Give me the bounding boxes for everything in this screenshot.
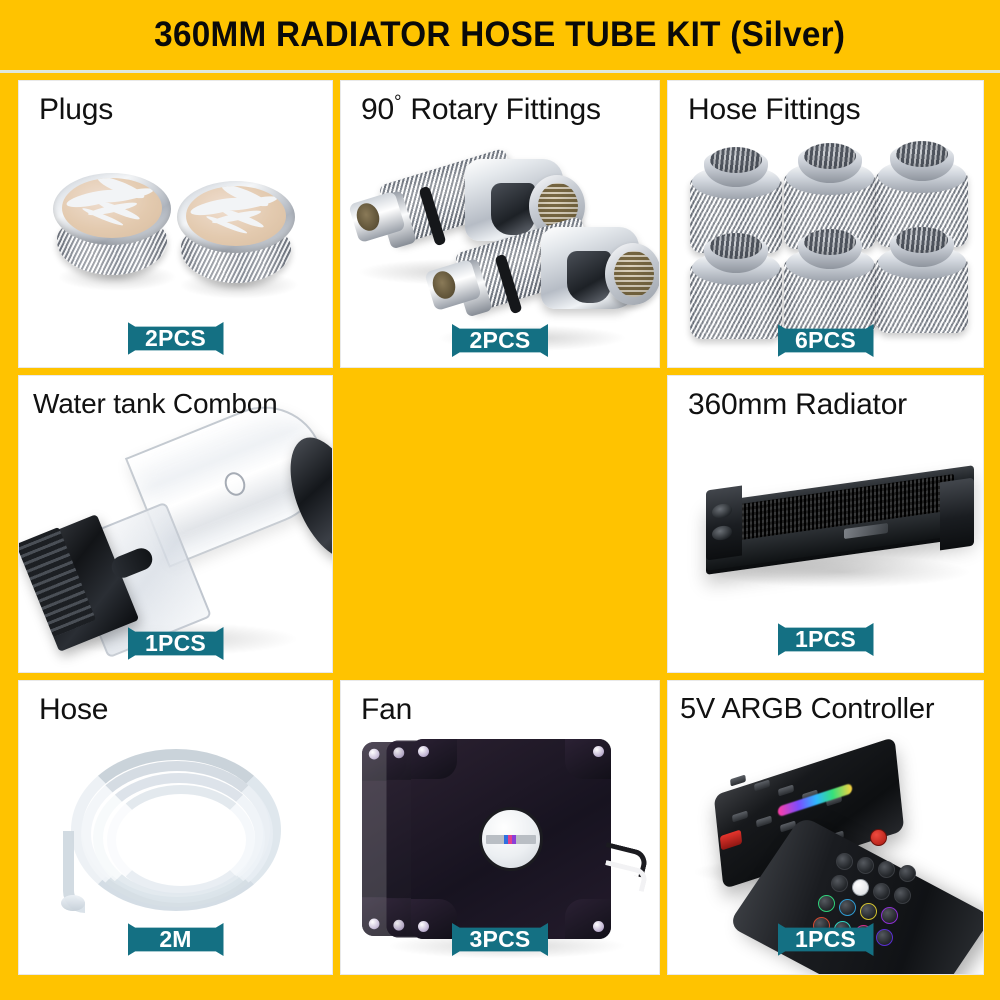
badge-wrap-water-tank: 1PCS xyxy=(19,627,332,660)
fan-hub-logo xyxy=(479,807,543,871)
status-badge: 2M xyxy=(128,923,224,956)
panel-label-water-tank: Water tank Combon xyxy=(33,388,278,420)
panel-label-radiator: 360mm Radiator xyxy=(688,388,907,422)
component-grid: Plugs 2PCS 90°Rotary Fittings xyxy=(18,80,984,977)
degree-symbol-icon: ° xyxy=(394,92,401,113)
badge-wrap-hose-fittings: 6PCS xyxy=(668,324,983,357)
panel-plugs[interactable]: Plugs 2PCS xyxy=(18,80,333,368)
panel-hose[interactable]: Hose 2M xyxy=(18,680,333,975)
status-badge: 2PCS xyxy=(452,324,548,357)
panel-radiator[interactable]: 360mm Radiator 1PCS xyxy=(667,375,984,673)
panel-fan[interactable]: Fan xyxy=(340,680,660,975)
status-badge: 3PCS xyxy=(452,923,548,956)
panel-label-hose: Hose xyxy=(39,693,108,727)
badge-wrap-argb-controller: 1PCS xyxy=(668,923,983,956)
status-badge: 6PCS xyxy=(778,324,874,357)
label-text: Rotary Fittings xyxy=(410,93,600,126)
badge-wrap-rotary: 2PCS xyxy=(341,324,659,357)
panel-water-tank-combon[interactable]: Water tank Combon 1PCS xyxy=(18,375,333,673)
badge-wrap-fan: 3PCS xyxy=(341,923,659,956)
label-degrees-value: 90 xyxy=(361,93,394,126)
panel-label-rotary-fittings: 90°Rotary Fittings xyxy=(361,93,601,127)
panel-label-plugs: Plugs xyxy=(39,93,113,127)
badge-wrap-plugs: 2PCS xyxy=(19,322,332,355)
header-divider xyxy=(0,70,1000,73)
status-badge: 1PCS xyxy=(128,627,224,660)
panel-argb-controller[interactable]: 5V ARGB Controller xyxy=(667,680,984,975)
panel-empty-spacer xyxy=(340,375,660,673)
panel-label-fan: Fan xyxy=(361,693,412,727)
status-badge: 1PCS xyxy=(778,623,874,656)
badge-wrap-hose: 2M xyxy=(19,923,332,956)
product-kit-poster: 360MM RADIATOR HOSE TUBE KIT (Silver) Pl… xyxy=(0,0,1000,1000)
panel-rotary-fittings[interactable]: 90°Rotary Fittings 2PC xyxy=(340,80,660,368)
status-badge: 1PCS xyxy=(778,923,874,956)
page-title: 360MM RADIATOR HOSE TUBE KIT (Silver) xyxy=(154,15,845,55)
panel-label-argb-controller: 5V ARGB Controller xyxy=(680,693,934,726)
status-badge: 2PCS xyxy=(128,322,224,355)
panel-hose-fittings[interactable]: Hose Fittings xyxy=(667,80,984,368)
panel-label-hose-fittings: Hose Fittings xyxy=(688,93,860,127)
badge-wrap-radiator: 1PCS xyxy=(668,623,983,656)
poster-header: 360MM RADIATOR HOSE TUBE KIT (Silver) xyxy=(0,0,1000,70)
